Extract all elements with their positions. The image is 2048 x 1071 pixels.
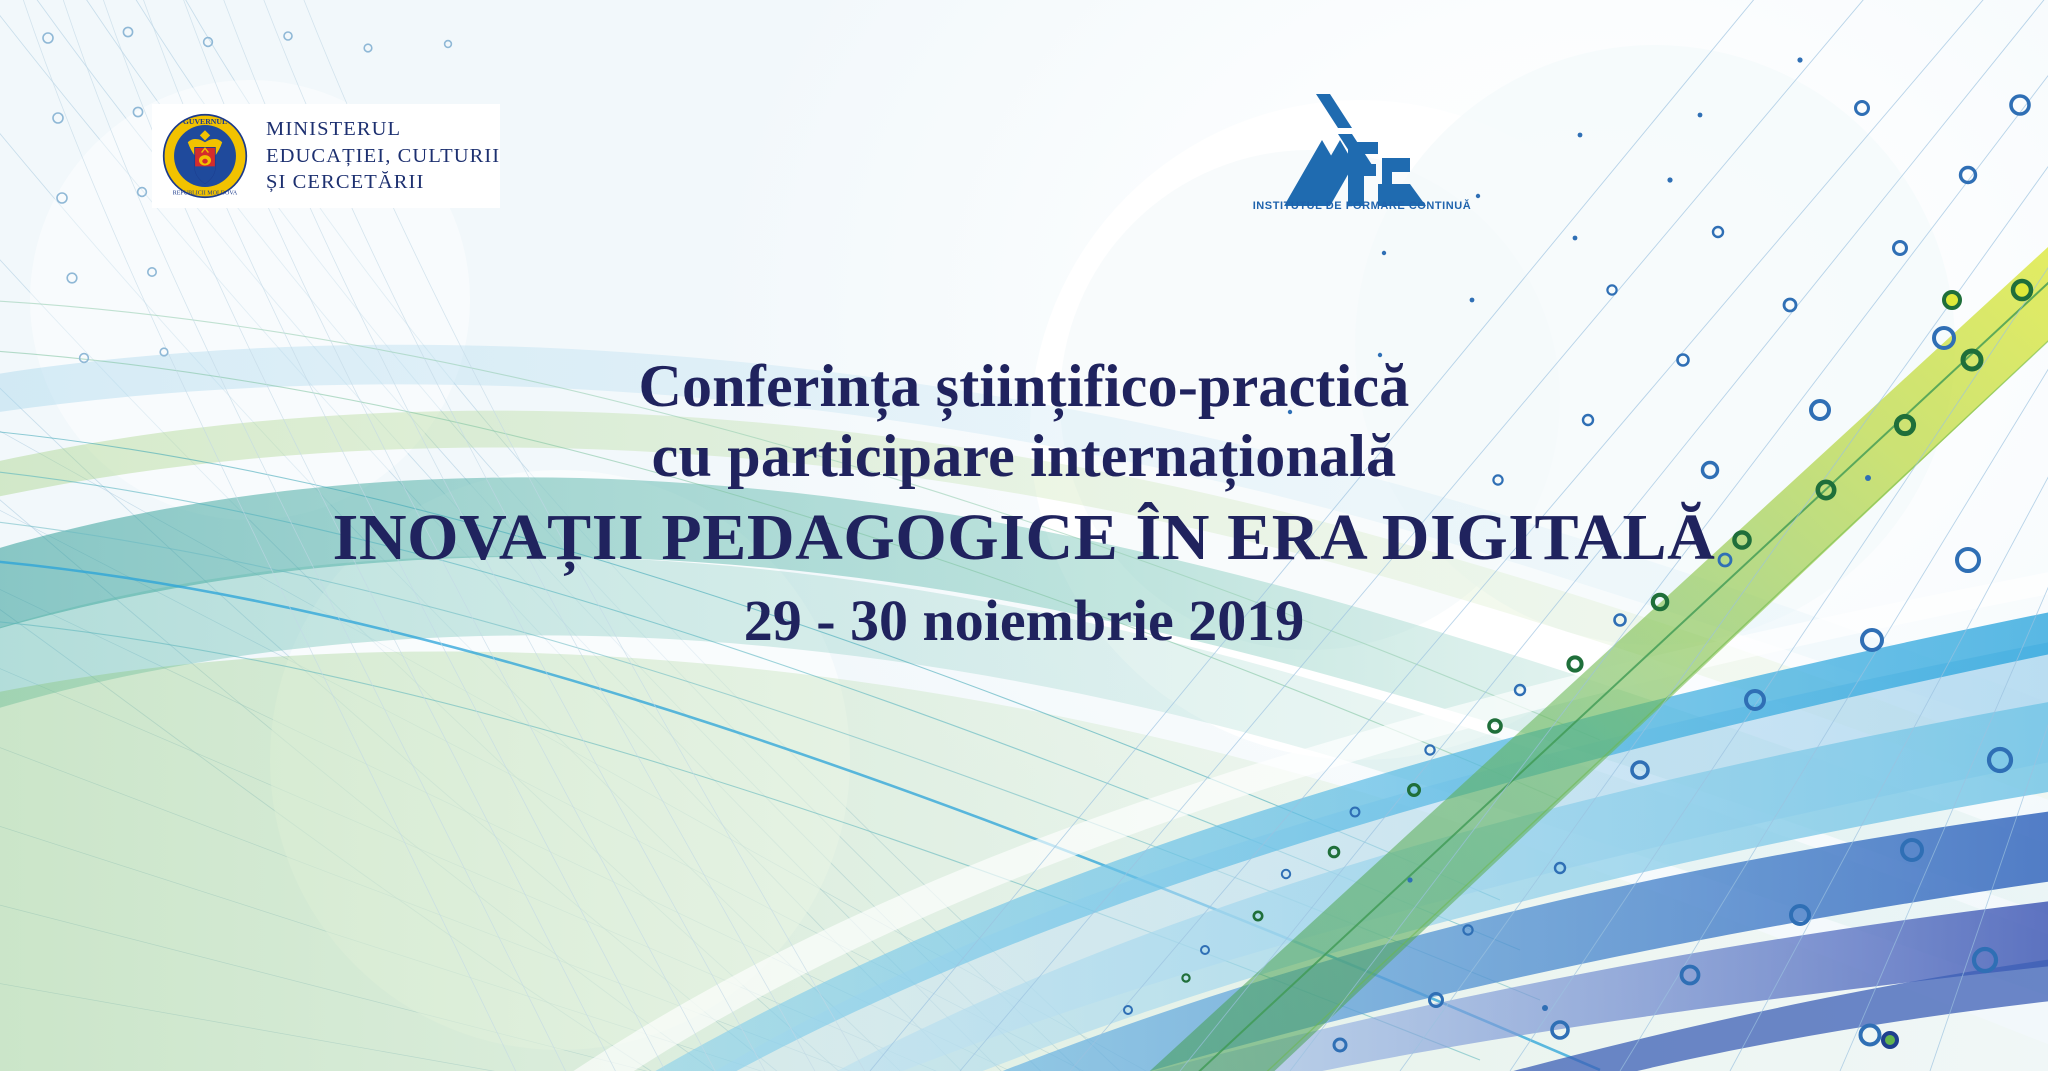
conference-participation-line: cu participare internațională xyxy=(0,422,2048,492)
conference-title-block: Conferința științifico-practică cu parti… xyxy=(0,352,2048,658)
ministry-line-3: ȘI CERCETĂRII xyxy=(266,169,500,196)
ministry-name: MINISTERUL EDUCAȚIEI, CULTURII ȘI CERCET… xyxy=(266,116,500,196)
moldova-coat-of-arms: GUVERNUL REPUBLICII MOLDOVA xyxy=(162,113,248,199)
svg-text:REPUBLICII MOLDOVA: REPUBLICII MOLDOVA xyxy=(173,191,238,197)
svg-text:GUVERNUL: GUVERNUL xyxy=(183,117,227,126)
conference-type-line: Conferința științifico-practică xyxy=(0,352,2048,422)
conference-dates: 29 - 30 noiembrie 2019 xyxy=(0,583,2048,658)
conference-banner: GUVERNUL REPUBLICII MOLDOVA MINISTERUL E… xyxy=(0,0,2048,1071)
conference-main-title: INOVAȚII PEDAGOGICE ÎN ERA DIGITALĂ xyxy=(0,495,2048,581)
ministry-line-1: MINISTERUL xyxy=(266,116,500,143)
ifc-logo xyxy=(1278,88,1438,218)
ifc-caption: INSTITUTUL DE FORMARE CONTINUĂ xyxy=(1228,200,1496,212)
ministry-logo: GUVERNUL REPUBLICII MOLDOVA MINISTERUL E… xyxy=(152,104,500,208)
ministry-line-2: EDUCAȚIEI, CULTURII xyxy=(266,143,500,170)
